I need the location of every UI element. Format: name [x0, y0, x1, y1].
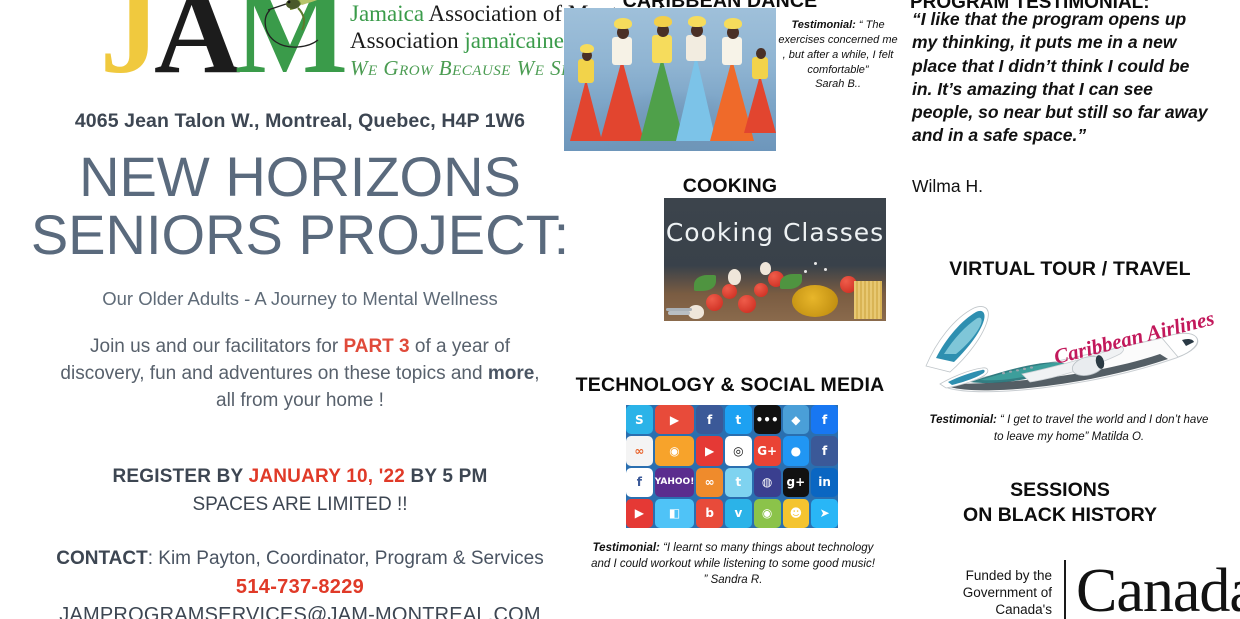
jam-logo: JAM Jamaica Association of Montreal inc.… [100, 0, 560, 110]
contact-email[interactable]: JAMPROGRAMSERVICES@JAM-MONTREAL.COM [0, 604, 600, 619]
logo-name-fr-pre: Association [350, 28, 464, 53]
left-column: JAM Jamaica Association of Montreal inc.… [0, 0, 600, 619]
tile-yahoo-icon: YAHOO! [655, 468, 695, 497]
tile-telegram-icon: ➤ [811, 499, 838, 528]
page-title: NEW HORIZONS SENIORS PROJECT: [0, 148, 600, 263]
cooking-image-caption: Cooking Classes [664, 218, 886, 247]
cooking-classes-image: Cooking Classes [664, 198, 886, 321]
org-address: 4065 Jean Talon W., Montreal, Quebec, H4… [0, 110, 600, 133]
tile-twitter-icon: t [725, 405, 752, 434]
testimonial-dance-author: Sarah B.. [778, 77, 898, 92]
page-title-line2: SENIORS PROJECT: [0, 206, 600, 264]
section-heading-black-history: SESSIONS ON BLACK HISTORY [910, 478, 1210, 529]
caribbean-dance-image [564, 8, 776, 151]
testimonial-travel-text: “ I get to travel the world and I don’t … [994, 414, 1209, 443]
intro-paragraph: Join us and our facilitators for PART 3 … [50, 334, 550, 415]
register-line: REGISTER BY JANUARY 10, '22 BY 5 PM [0, 466, 600, 488]
logo-letter-a: A [154, 0, 235, 98]
tile-bing-icon: b [696, 499, 723, 528]
funding-divider [1064, 560, 1066, 619]
contact-details: : Kim Payton, Coordinator, Program & Ser… [148, 548, 544, 569]
testimonial-dance: Testimonial: “ The exercises concerned m… [778, 18, 898, 92]
tile-generic-blue-icon: ● [783, 436, 810, 465]
section-heading-virtual-travel: VIRTUAL TOUR / TRAVEL [910, 258, 1230, 281]
tile-instagram-icon: ◎ [725, 436, 752, 465]
funding-block: Funded by the Government of Canada's Can… [912, 560, 1240, 619]
contact-phone[interactable]: 514-737-8229 [0, 576, 600, 599]
tile-flickr-icon: ◧ [655, 499, 695, 528]
program-testimonial-author: Wilma H. [912, 176, 1212, 197]
tile-messenger-icon: ◆ [783, 405, 810, 434]
intro-more-highlight: more [488, 363, 534, 384]
tile-google-plus-icon: G+ [754, 436, 781, 465]
tile-vimeo-icon: v [725, 499, 752, 528]
testimonial-technology: Testimonial: “I learnt so many things ab… [588, 540, 878, 588]
testimonial-travel: Testimonial: “ I get to travel the world… [924, 412, 1214, 445]
tile-infinity-icon: ∞ [626, 436, 653, 465]
tile-camera2-icon: ◉ [754, 499, 781, 528]
contact-line: CONTACT: Kim Payton, Coordinator, Progra… [0, 548, 600, 570]
testimonial-technology-label: Testimonial: [593, 542, 660, 554]
tile-facebook2-icon: f [811, 405, 838, 434]
black-history-line1: SESSIONS [910, 478, 1210, 503]
tile-facebook3-icon: f [811, 436, 838, 465]
tile-youtube-icon: ▶ [655, 405, 695, 434]
tile-skype-icon: S [626, 405, 653, 434]
contact-label: CONTACT [56, 548, 147, 569]
register-deadline-date: JANUARY 10, '22 [249, 466, 405, 487]
tile-youtube2-icon: ▶ [696, 436, 723, 465]
hummingbird-icon [260, 0, 330, 50]
airplane-icon: Caribbean Airlines [910, 292, 1230, 412]
intro-pre: Join us and our facilitators for [90, 336, 343, 357]
tile-meetup-icon: ••• [754, 405, 781, 434]
spaces-limited-note: SPACES ARE LIMITED !! [0, 494, 600, 516]
tile-twitter2-icon: t [725, 468, 752, 497]
black-history-line2: ON BLACK HISTORY [910, 503, 1210, 528]
tile-infinity2-icon: ∞ [696, 468, 723, 497]
tile-globe-icon: ◍ [754, 468, 781, 497]
testimonial-dance-label: Testimonial: [791, 19, 855, 31]
poster-root: JAM Jamaica Association of Montreal inc.… [0, 0, 1240, 619]
funding-line1: Funded by the [920, 568, 1052, 585]
caribbean-airlines-image: Caribbean Airlines [910, 292, 1230, 412]
section-heading-cooking: COOKING [580, 175, 880, 198]
program-testimonial-quote: “I like that the program opens up my thi… [912, 8, 1212, 148]
tile-youtube3-icon: ▶ [626, 499, 653, 528]
page-title-line1: NEW HORIZONS [0, 148, 600, 206]
register-post: BY 5 PM [405, 466, 488, 487]
tile-google-plus2-icon: g+ [783, 468, 810, 497]
intro-part-highlight: PART 3 [343, 336, 409, 357]
right-column: PROGRAM TESTIMONIAL: “I like that the pr… [900, 0, 1240, 619]
testimonial-travel-label: Testimonial: [930, 414, 997, 426]
logo-name-fr-green: jamaïcaine [464, 28, 564, 53]
tile-facebook4-icon: f [626, 468, 653, 497]
page-subtitle: Our Older Adults - A Journey to Mental W… [0, 288, 600, 310]
logo-letter-j: J [100, 0, 154, 98]
tile-snapchat-icon: ☻ [783, 499, 810, 528]
register-pre: REGISTER BY [112, 466, 248, 487]
middle-column: CARIBBEAN DANCE [560, 0, 900, 619]
tile-facebook-icon: f [696, 405, 723, 434]
logo-name-en-green: Jamaica [350, 1, 424, 26]
social-media-image: S ▶ f t ••• ◆ f ∞ ◉ ▶ ◎ G+ ● f f YAHOO! … [626, 405, 838, 528]
funding-line2: Government of Canada's [920, 585, 1052, 619]
canada-wordmark: Canada [1076, 556, 1240, 619]
funding-text: Funded by the Government of Canada's [920, 568, 1052, 619]
tile-linkedin-icon: in [811, 468, 838, 497]
section-heading-technology: TECHNOLOGY & SOCIAL MEDIA [570, 374, 890, 397]
tile-camera-icon: ◉ [655, 436, 695, 465]
